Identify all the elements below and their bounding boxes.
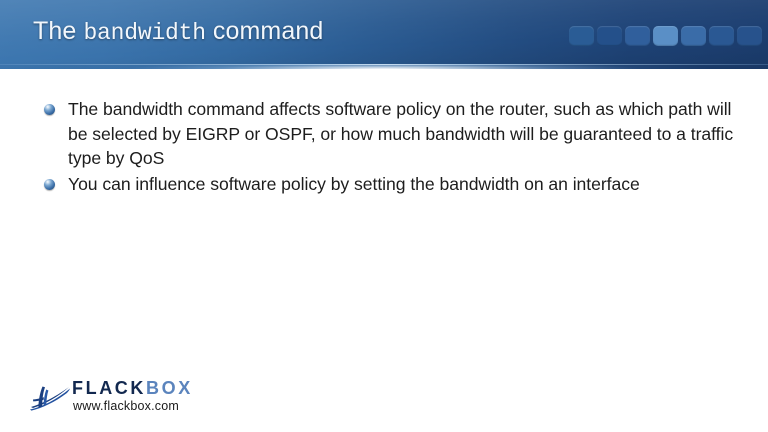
logo-url-text: www.flackbox.com [73,399,179,414]
slide-header: The bandwidth command [0,0,768,69]
slide: The bandwidth command The bandwidth comm… [0,0,768,432]
decorative-square-2 [597,26,622,46]
title-suffix: command [206,17,324,45]
logo-brand-primary: FLACK [72,378,146,398]
decorative-square-7 [737,26,762,46]
logo-brand-secondary: BOX [146,378,193,398]
flackbox-swoosh-icon [28,380,72,414]
decorative-square-1 [569,26,594,46]
bullet-text: You can influence software policy by set… [68,172,738,197]
title-prefix: The [33,17,83,45]
bullet-text: The bandwidth command affects software p… [68,97,738,171]
page-title: The bandwidth command [33,15,323,49]
logo-wordmark: FLACKBOX [72,378,193,398]
decorative-square-3 [625,26,650,46]
header-decoration-squares [569,26,762,46]
bullet-list: The bandwidth command affects software p… [44,97,738,197]
title-command-code: bandwidth [83,20,205,46]
decorative-square-4 [653,26,678,46]
decorative-square-5 [681,26,706,46]
header-glow [0,64,768,69]
bullet-sphere-icon [44,104,55,115]
list-item: You can influence software policy by set… [44,172,738,197]
bullet-sphere-icon [44,179,55,190]
decorative-square-6 [709,26,734,46]
flackbox-logo: FLACKBOX www.flackbox.com [28,376,208,420]
list-item: The bandwidth command affects software p… [44,97,738,171]
